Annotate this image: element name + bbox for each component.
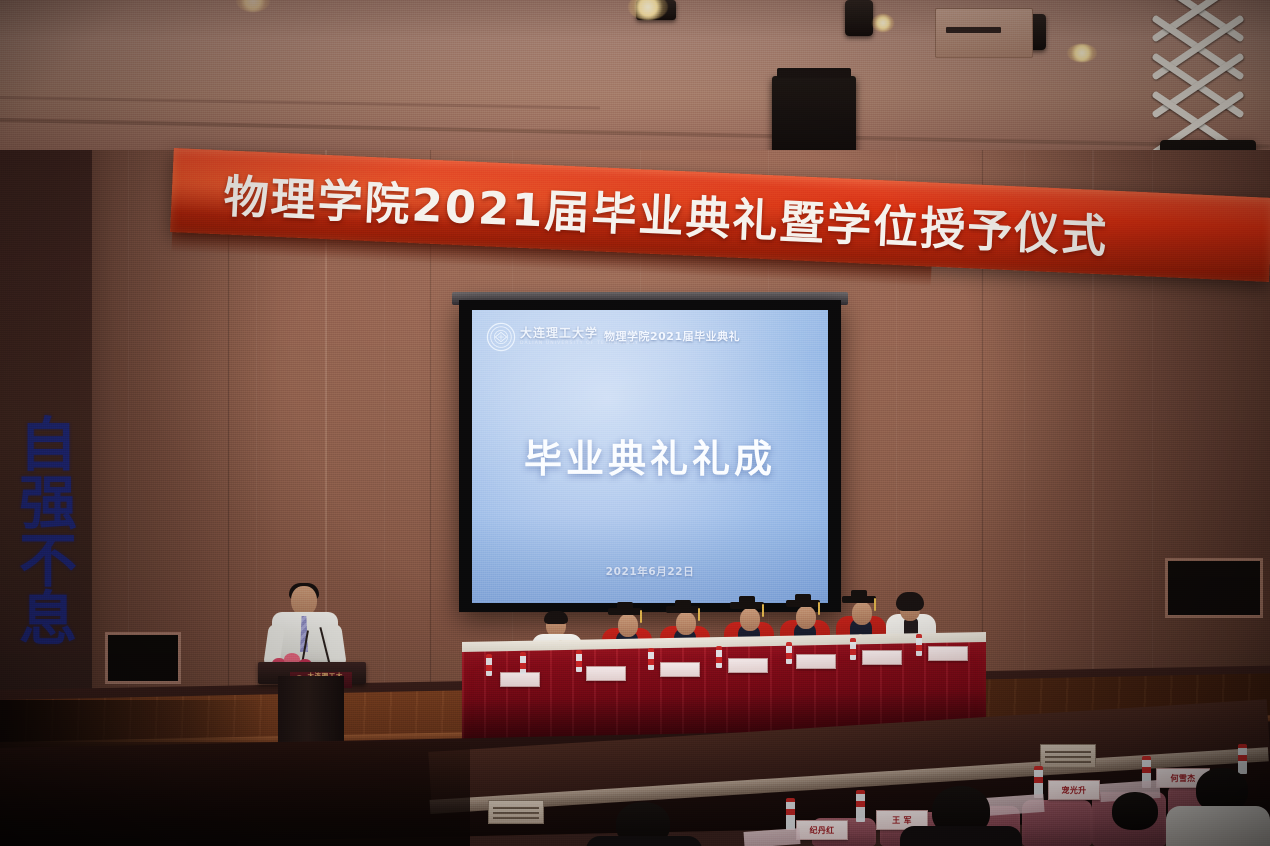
name-placard xyxy=(660,662,700,677)
photograph-auditorium-graduation: 自强不息 物理学院2021届毕业典礼暨学位授予仪式 大连理工大学 DALIAN … xyxy=(0,0,1270,846)
water-bottle xyxy=(648,648,654,670)
desk-paper xyxy=(744,828,801,846)
wall-recessed-panel xyxy=(105,632,181,684)
name-placard xyxy=(586,666,626,681)
air-conditioning-vent xyxy=(935,8,1033,58)
water-bottle xyxy=(716,646,722,668)
spotlight-glow xyxy=(872,14,894,32)
water-bottle xyxy=(786,798,795,830)
ceiling-speaker xyxy=(772,76,856,158)
name-placard xyxy=(928,646,968,661)
audience-person xyxy=(1112,792,1158,830)
audience-person-shoulders xyxy=(1166,806,1270,846)
water-bottle xyxy=(520,652,526,674)
water-bottle xyxy=(486,654,492,676)
foreground-shadow xyxy=(0,742,470,846)
wall-vent xyxy=(1040,744,1096,768)
projection-screen: 大连理工大学 DALIAN UNIVERSITY OF TECHNOLOGY 物… xyxy=(472,310,828,603)
water-bottle xyxy=(1238,744,1247,774)
audience-person-shoulders xyxy=(900,826,1022,846)
spotlight-fixture xyxy=(845,0,873,36)
name-placard xyxy=(728,658,768,673)
water-bottle xyxy=(916,634,922,656)
water-bottle xyxy=(576,650,582,672)
name-placard: 宠光升 xyxy=(1048,780,1100,800)
water-bottle xyxy=(786,642,792,664)
water-bottle xyxy=(850,638,856,660)
water-bottle xyxy=(856,790,865,822)
wall-vent xyxy=(488,800,544,824)
name-placard xyxy=(500,672,540,687)
name-placard xyxy=(862,650,902,665)
audience-person-shoulders xyxy=(586,836,702,846)
name-placard: 纪丹红 xyxy=(796,820,848,840)
person-hair xyxy=(544,611,568,624)
spotlight-glow xyxy=(1067,44,1097,62)
wall-calligraphy: 自强不息 xyxy=(6,372,82,688)
person-hair xyxy=(896,592,924,611)
name-placard xyxy=(796,654,836,669)
wall-recessed-panel xyxy=(1165,558,1263,618)
screen-glare xyxy=(472,310,828,603)
